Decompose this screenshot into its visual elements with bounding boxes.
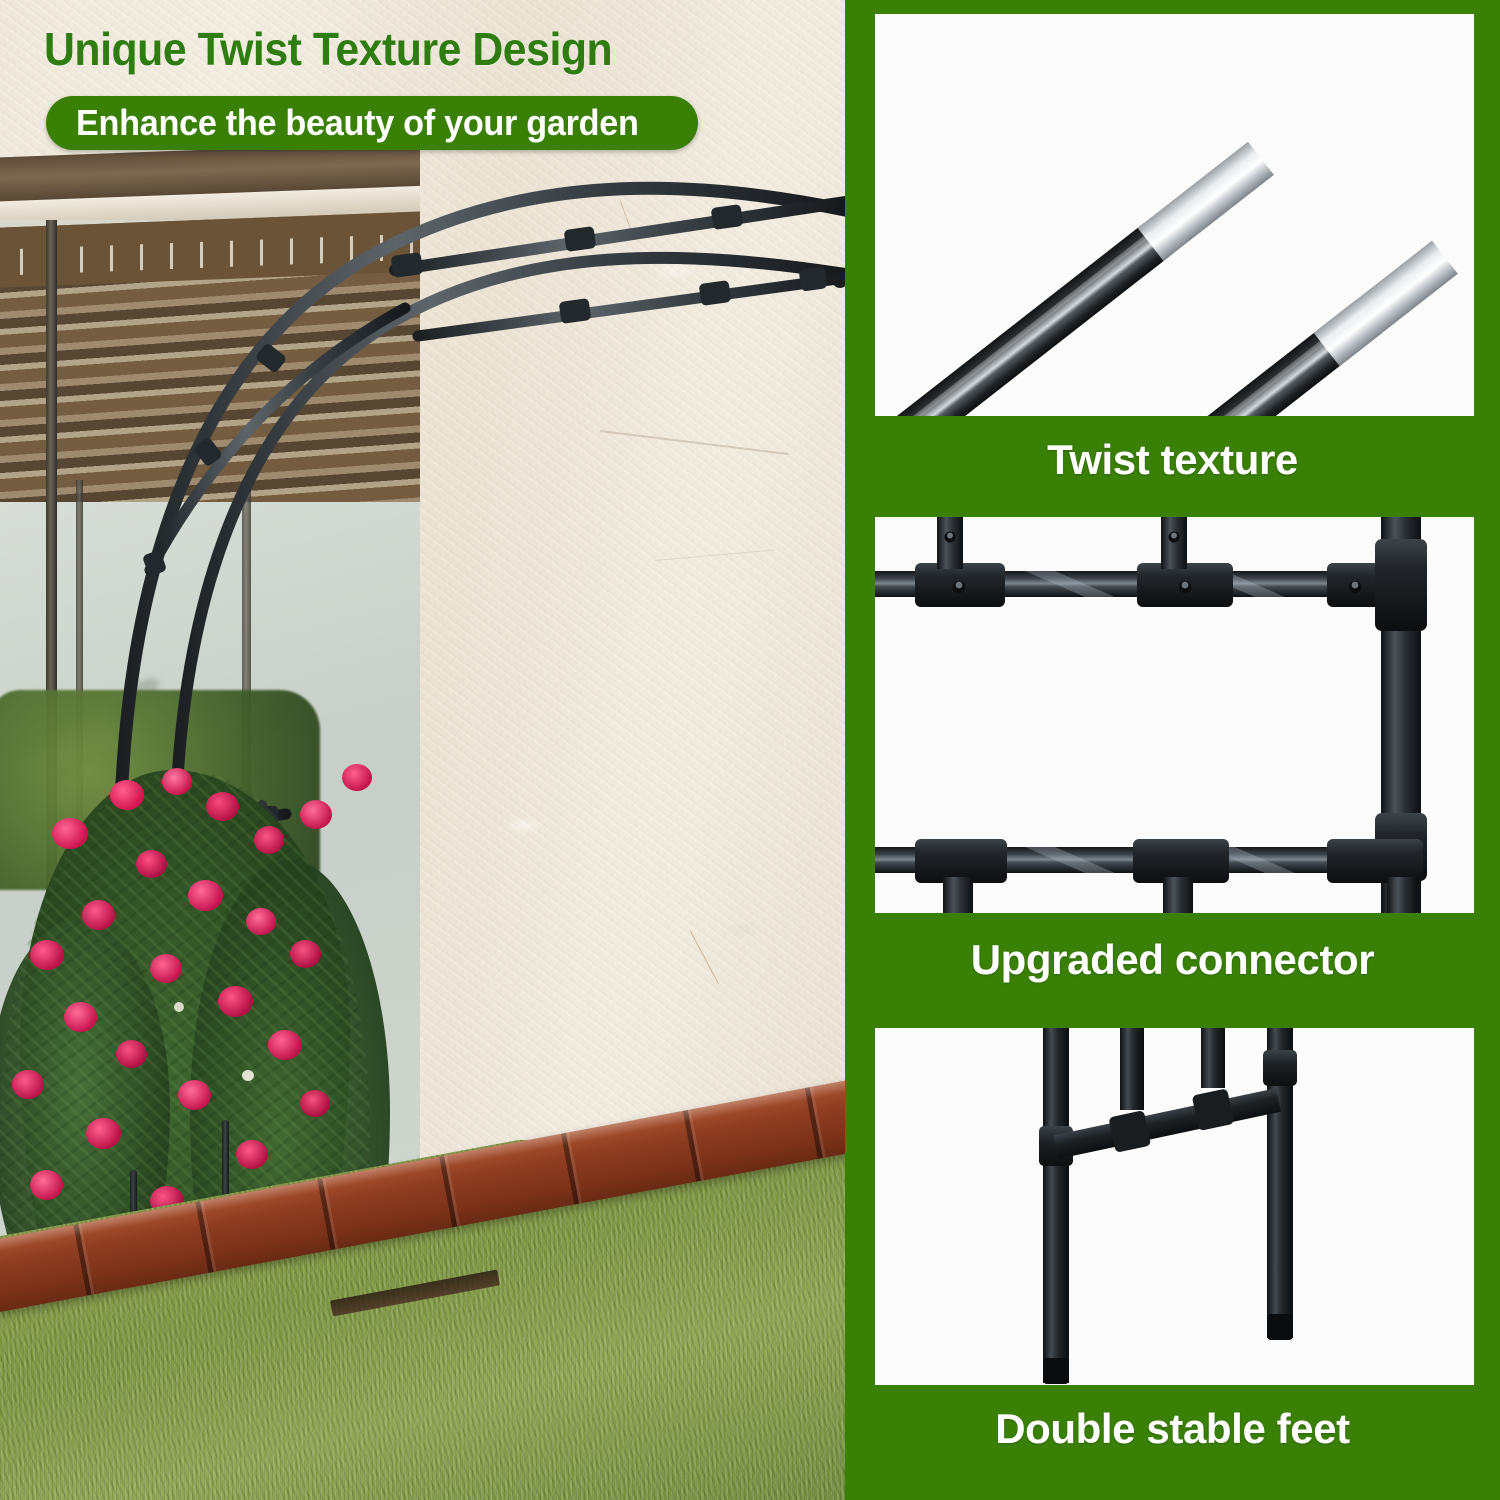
- short-upright: [1120, 1028, 1144, 1110]
- rose-bloom: [82, 900, 115, 930]
- rose-bloom: [162, 768, 192, 795]
- connector-block: [915, 839, 1007, 883]
- feature-caption-twist-texture: Twist texture: [845, 436, 1500, 484]
- rose-bloom: [218, 986, 253, 1017]
- lower-stub: [943, 877, 973, 913]
- infographic-canvas: Unique Twist Texture Design Enhance the …: [0, 0, 1500, 1500]
- rose-bloom: [136, 850, 167, 878]
- rose-bloom: [268, 1030, 302, 1060]
- long-leg-left: [1043, 1028, 1069, 1383]
- rose-bud: [174, 1002, 184, 1012]
- connector-block: [915, 563, 1005, 607]
- feature-panel: Twist texture: [845, 0, 1500, 1500]
- post-connector: [1375, 539, 1427, 631]
- rose-bloom: [52, 818, 88, 849]
- rose-bloom: [290, 940, 321, 968]
- subtitle-text: Enhance the beauty of your garden: [76, 102, 639, 144]
- twist-texture-photo: [875, 14, 1474, 416]
- feature-card-double-stable-feet: [875, 1028, 1474, 1385]
- feature-card-upgraded-connector: [875, 517, 1474, 913]
- double-stable-feet-photo: [875, 1028, 1474, 1385]
- rose-bloom: [254, 826, 284, 854]
- rose-bloom: [12, 1070, 44, 1099]
- rose-bloom: [110, 780, 144, 810]
- rose-bloom: [188, 880, 223, 911]
- feature-caption-double-stable-feet: Double stable feet: [845, 1405, 1500, 1453]
- rose-bloom: [116, 1040, 147, 1068]
- rose-bloom: [300, 800, 332, 829]
- lower-stub: [1163, 877, 1193, 913]
- subtitle-badge: Enhance the beauty of your garden: [46, 96, 698, 150]
- page-title: Unique Twist Texture Design: [44, 22, 612, 76]
- rose-bloom: [206, 792, 239, 821]
- rose-bloom: [30, 940, 64, 970]
- connector-block: [1327, 839, 1423, 883]
- leg-tip: [1043, 1358, 1069, 1384]
- feature-caption-upgraded-connector: Upgraded connector: [845, 936, 1500, 984]
- lower-stub: [1387, 877, 1417, 913]
- connector-block: [1133, 839, 1229, 883]
- short-upright: [1201, 1028, 1225, 1088]
- rose-bloom: [150, 954, 182, 983]
- rose-bloom: [342, 764, 372, 791]
- upper-stub: [1161, 517, 1187, 569]
- rose-bud: [242, 1070, 254, 1081]
- upper-stub: [937, 517, 963, 569]
- rose-bloom: [246, 908, 276, 935]
- rose-bloom: [64, 1002, 97, 1032]
- upgraded-connector-photo: [875, 517, 1474, 913]
- leg-sleeve: [1263, 1050, 1297, 1086]
- rose-bloom: [300, 1090, 330, 1117]
- hero-photo: Unique Twist Texture Design Enhance the …: [0, 0, 845, 1500]
- feature-card-twist-texture: [875, 14, 1474, 416]
- leg-tip: [1267, 1314, 1293, 1340]
- rose-bloom: [178, 1080, 211, 1110]
- connector-block: [1137, 563, 1233, 607]
